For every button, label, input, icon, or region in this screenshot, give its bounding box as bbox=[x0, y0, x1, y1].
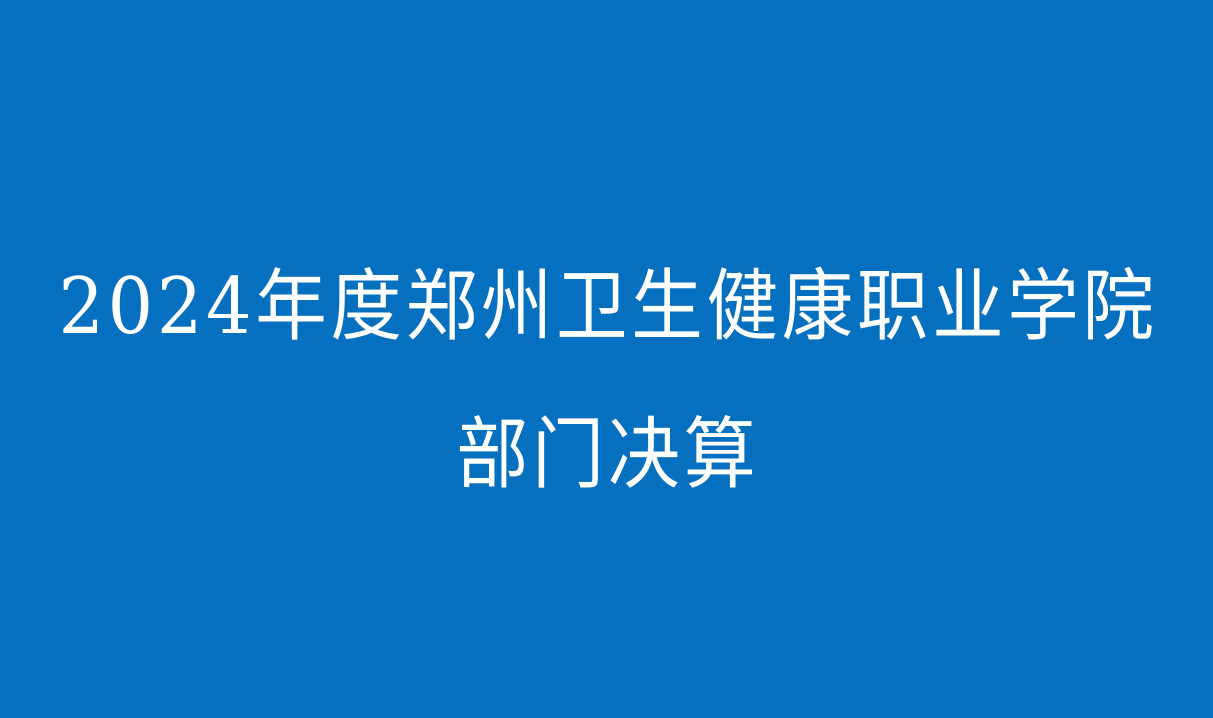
cover-title-block: 2024年度郑州卫生健康职业学院 部门决算 bbox=[0, 255, 1213, 507]
cover-slide: 2024年度郑州卫生健康职业学院 部门决算 bbox=[0, 0, 1213, 718]
cover-title-line-1: 2024年度郑州卫生健康职业学院 bbox=[55, 255, 1158, 359]
cover-title-line-2: 部门决算 bbox=[453, 403, 760, 507]
